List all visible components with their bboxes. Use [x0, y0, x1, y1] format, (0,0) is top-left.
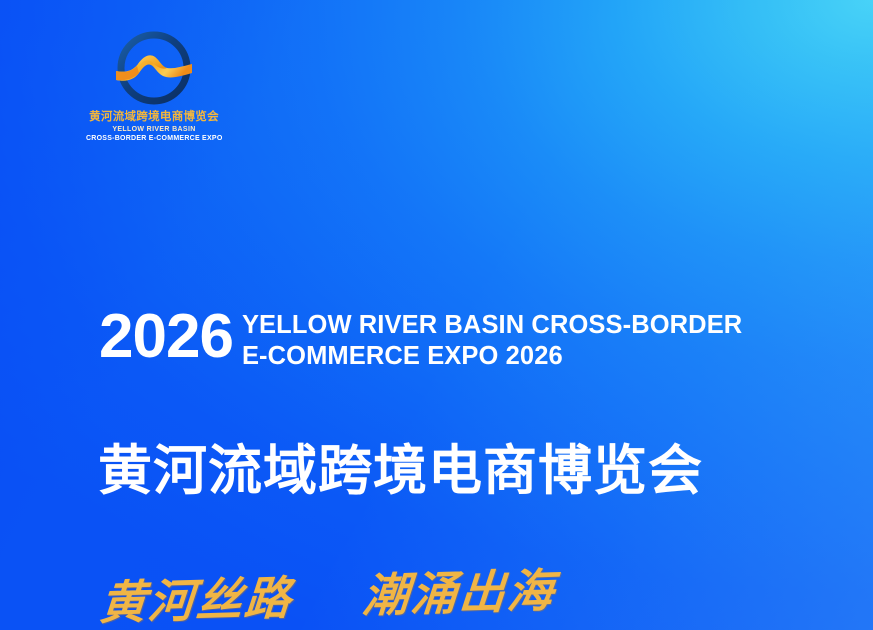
logo-chinese-name: 黄河流域跨境电商博览会 — [86, 111, 222, 124]
headline-english-line-2: E-COMMERCE EXPO 2026 — [242, 341, 742, 373]
logo-english-line-1: YELLOW RIVER BASIN — [86, 126, 222, 135]
headline-year: 2026 — [99, 307, 233, 367]
poster-cover: 黄河流域跨境电商博览会 YELLOW RIVER BASIN CROSS-BOR… — [0, 0, 873, 630]
headline-title-row: 2026 YELLOW RIVER BASIN CROSS-BORDER E-C… — [99, 304, 873, 373]
headline-chinese: 黄河流域跨境电商博览会 — [98, 443, 873, 500]
calligraphy-spacer — [309, 612, 343, 613]
headline-english-block: YELLOW RIVER BASIN CROSS-BORDER E-COMMER… — [242, 310, 742, 373]
logo-english-line-2: CROSS-BORDER E-COMMERCE EXPO — [86, 135, 222, 144]
yellow-river-ribbon-circle-logo-icon — [108, 26, 200, 110]
expo-logo: 黄河流域跨境电商博览会 YELLOW RIVER BASIN CROSS-BOR… — [86, 26, 222, 144]
calligraphy-phrase-1: 黄河丝路 — [98, 570, 295, 629]
calligraphy-slogan: 黄河丝路 潮涌出海 — [98, 554, 873, 627]
calligraphy-phrase-2: 潮涌出海 — [361, 563, 558, 622]
headline-english-line-1: YELLOW RIVER BASIN CROSS-BORDER — [242, 310, 742, 342]
